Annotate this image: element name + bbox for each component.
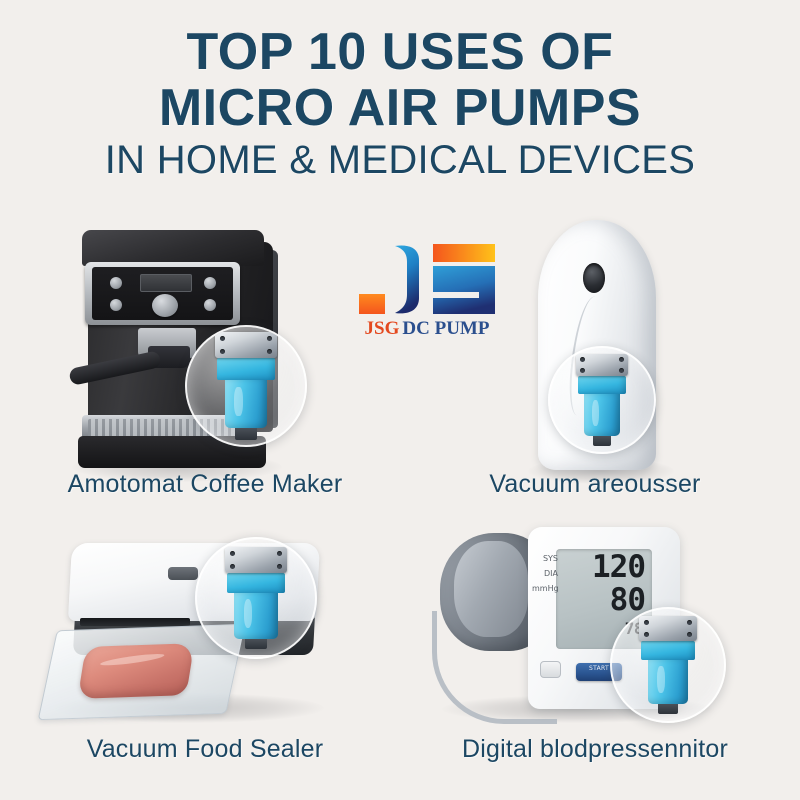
item-label-vacuum-food-sealer: Vacuum Food Sealer: [30, 735, 380, 764]
pump-cylinder: [584, 394, 620, 436]
coffee-maker-control-panel: [85, 262, 240, 325]
pump-head: [576, 354, 628, 376]
coffee-maker-icon: [30, 200, 380, 500]
item-label-blood-pressure-monitor: Digital blodpressennitor: [420, 735, 770, 764]
pump-motor-foot: [593, 436, 611, 446]
item-label-coffee-maker: Amotomat Coffee Maker: [30, 470, 380, 499]
bp-power-button[interactable]: [540, 661, 561, 678]
pump-motor-foot: [235, 428, 257, 440]
coffee-button-2: [110, 299, 122, 311]
coffee-button-1: [110, 277, 122, 289]
sealer-pump-magnifier: [195, 537, 317, 659]
title-line-3: IN HOME & MEDICAL DEVICES: [0, 140, 800, 180]
coffee-maker-knob: [152, 294, 178, 317]
coffee-maker-display: [140, 274, 192, 292]
item-aerosol-dispenser[interactable]: Vacuum areousser: [420, 200, 770, 500]
pump-motor-foot: [245, 639, 267, 649]
bp-label-dia: DIA: [532, 566, 558, 581]
pump-upper-chamber: [641, 641, 695, 660]
pump-upper-chamber: [227, 573, 285, 593]
bp-label-sys: SYS: [532, 551, 558, 566]
coffee-button-4: [204, 299, 216, 311]
pump-cylinder: [648, 660, 688, 704]
coffee-maker-top-plate: [82, 230, 264, 266]
item-label-aerosol-dispenser: Vacuum areousser: [420, 470, 770, 499]
sealer-bag-slot: [80, 618, 190, 626]
micro-air-pump-icon: [225, 547, 287, 649]
bp-lcd-side-labels: SYS DIA mmHg: [532, 551, 558, 597]
sealer-power-button[interactable]: [168, 567, 198, 580]
pump-head: [225, 547, 287, 573]
infographic-poster: TOP 10 USES OF MICRO AIR PUMPS IN HOME &…: [0, 0, 800, 800]
title-line-1: TOP 10 USES OF: [0, 26, 800, 78]
bp-diastolic-value: 80: [610, 585, 645, 616]
micro-air-pump-icon: [639, 616, 697, 714]
dispenser-nozzle-icon: [583, 263, 605, 293]
title-line-2: MICRO AIR PUMPS: [0, 82, 800, 134]
pump-head: [215, 332, 277, 358]
aerosol-dispenser-icon: [420, 200, 770, 500]
micro-air-pump-icon: [215, 332, 277, 440]
pump-upper-chamber: [217, 358, 275, 380]
bp-label-mmhg: mmHg: [532, 581, 558, 596]
pump-cylinder: [225, 380, 267, 428]
poster-title: TOP 10 USES OF MICRO AIR PUMPS IN HOME &…: [0, 26, 800, 180]
sealed-meat: [78, 643, 195, 699]
pump-motor-foot: [658, 704, 678, 714]
item-blood-pressure-monitor[interactable]: SYS DIA mmHg 120 80 78 START: [420, 515, 770, 775]
pump-upper-chamber: [578, 376, 626, 394]
bp-pump-magnifier: [610, 607, 726, 723]
coffee-maker-pump-magnifier: [185, 325, 307, 447]
pump-head: [639, 616, 697, 641]
micro-air-pump-icon: [576, 354, 628, 446]
bp-systolic-value: 120: [592, 552, 645, 583]
coffee-button-3: [204, 277, 216, 289]
item-coffee-maker[interactable]: Amotomat Coffee Maker: [30, 200, 380, 500]
pump-cylinder: [234, 593, 278, 639]
control-panel-face: [92, 267, 233, 320]
dispenser-pump-magnifier: [548, 346, 656, 454]
bp-cuff-inner: [454, 541, 528, 637]
item-vacuum-food-sealer[interactable]: Vacuum Food Sealer: [30, 515, 380, 775]
